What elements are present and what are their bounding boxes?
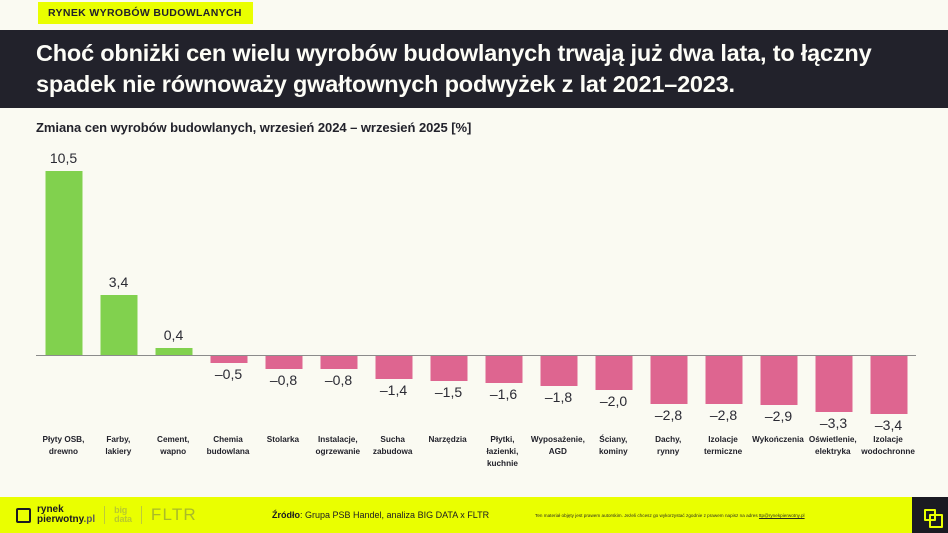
copyright-disclaimer: Ten materiał objęty jest prawem autorski…: [535, 513, 805, 518]
brand-tld: .pl: [83, 514, 95, 525]
bar-negative: [650, 355, 687, 404]
x-axis-labels: Płyty OSB,drewnoFarby,lakieryCement,wapn…: [36, 434, 916, 470]
disclaimer-link[interactable]: ttp@rynekpierwotny.pl: [759, 513, 805, 518]
bar-column: –2,9: [751, 152, 806, 428]
bar-positive: [45, 171, 82, 354]
bar-negative: [540, 355, 577, 386]
fltr-logo: FLTR: [151, 505, 197, 525]
x-axis-label: Suchazabudowa: [365, 434, 420, 470]
bar-negative: [760, 355, 797, 406]
bar-value-label: –2,8: [655, 407, 682, 423]
bar-column: –3,4: [861, 152, 916, 428]
x-axis-label: Wykończenia: [751, 434, 806, 470]
bar-column: 0,4: [146, 152, 201, 428]
x-axis-label: Oświetlenie,elektryka: [805, 434, 860, 470]
x-axis-label: Narzędzia: [420, 434, 475, 470]
bar-value-label: –0,8: [270, 372, 297, 388]
bar-negative: [265, 355, 302, 369]
x-axis-label: Farby,lakiery: [91, 434, 146, 470]
bar-value-label: 3,4: [109, 274, 128, 290]
source-label: Źródło: [272, 510, 300, 520]
square-logo-icon: [16, 508, 31, 523]
bar-positive: [100, 295, 137, 354]
bigdata-line-2: data: [114, 515, 132, 524]
bar-value-label: –2,8: [710, 407, 737, 423]
bar-value-label: –1,6: [490, 386, 517, 402]
x-axis-label: Cement,wapno: [146, 434, 201, 470]
bar-column: –1,6: [476, 152, 531, 428]
bar-negative: [595, 355, 632, 390]
footer-logos: rynek pierwotny.pl big data FLTR: [0, 505, 197, 526]
x-axis-label: Ściany,kominy: [586, 434, 641, 470]
bar-value-label: –0,8: [325, 372, 352, 388]
bar-negative: [375, 355, 412, 379]
bar-column: –0,8: [311, 152, 366, 428]
bar-column: –1,8: [531, 152, 586, 428]
x-axis-label: Dachy,rynny: [641, 434, 696, 470]
bar-column: 10,5: [36, 152, 91, 428]
bar-value-label: –1,5: [435, 384, 462, 400]
bar-column: –1,5: [421, 152, 476, 428]
disclaimer-text: Ten materiał objęty jest prawem autorski…: [535, 513, 759, 518]
chart-subtitle: Zmiana cen wyrobów budowlanych, wrzesień…: [36, 120, 471, 135]
bar-column: –2,8: [696, 152, 751, 428]
bar-column: –0,8: [256, 152, 311, 428]
bar-positive: [155, 348, 192, 355]
x-axis-label: Izolacjetermiczne: [696, 434, 751, 470]
bar-negative: [430, 355, 467, 381]
brand-line-2: pierwotny.pl: [37, 515, 95, 526]
bar-column: –3,3: [806, 152, 861, 428]
rynek-pierwotny-logo[interactable]: rynek pierwotny.pl: [16, 505, 95, 526]
x-axis-label: Izolacjewodochronne: [860, 434, 916, 470]
logo-divider-2: [141, 506, 142, 524]
bar-value-label: –2,9: [765, 408, 792, 424]
x-axis-label: Stolarka: [256, 434, 311, 470]
bar-chart: 10,53,40,4–0,5–0,8–0,8–1,4–1,5–1,6–1,8–2…: [36, 152, 916, 474]
x-axis-label: Wyposażenie,AGD: [530, 434, 586, 470]
bar-value-label: –1,8: [545, 389, 572, 405]
bar-column: –2,8: [641, 152, 696, 428]
bar-value-label: –2,0: [600, 393, 627, 409]
bar-value-label: 0,4: [164, 327, 183, 343]
source-text: : Grupa PSB Handel, analiza BIG DATA x F…: [300, 510, 489, 520]
chart-plot-area: 10,53,40,4–0,5–0,8–0,8–1,4–1,5–1,6–1,8–2…: [36, 152, 916, 428]
brand-name: rynek pierwotny.pl: [37, 505, 95, 526]
x-axis-label: Instalacje,ogrzewanie: [310, 434, 365, 470]
bar-negative: [485, 355, 522, 383]
headline-band: Choć obniżki cen wielu wyrobów budowlany…: [0, 30, 948, 108]
kicker-container: RYNEK WYROBÓW BUDOWLANYCH: [38, 2, 253, 24]
corner-square-icon: [924, 509, 936, 521]
x-axis-label: Płytki,łazienki,kuchnie: [475, 434, 530, 470]
bar-value-label: –1,4: [380, 382, 407, 398]
zero-axis-line: [36, 355, 916, 357]
infographic-page: RYNEK WYROBÓW BUDOWLANYCH Choć obniżki c…: [0, 0, 948, 533]
x-axis-label: Chemiabudowlana: [201, 434, 256, 470]
bar-column: –2,0: [586, 152, 641, 428]
source-note: Źródło: Grupa PSB Handel, analiza BIG DA…: [272, 510, 489, 520]
bar-value-label: –0,5: [215, 366, 242, 382]
bar-columns: 10,53,40,4–0,5–0,8–0,8–1,4–1,5–1,6–1,8–2…: [36, 152, 916, 428]
x-axis-label: Płyty OSB,drewno: [36, 434, 91, 470]
bar-value-label: –3,4: [875, 417, 902, 433]
bar-value-label: 10,5: [50, 150, 77, 166]
bar-negative: [870, 355, 907, 414]
bar-negative: [705, 355, 742, 404]
bar-value-label: –3,3: [820, 415, 847, 431]
bigdata-logo: big data: [114, 506, 132, 524]
footer-bar: rynek pierwotny.pl big data FLTR Źródło:…: [0, 497, 948, 533]
logo-divider-1: [104, 506, 105, 524]
bar-column: –1,4: [366, 152, 421, 428]
bar-column: 3,4: [91, 152, 146, 428]
kicker-badge: RYNEK WYROBÓW BUDOWLANYCH: [38, 2, 253, 24]
bar-negative: [320, 355, 357, 369]
bar-column: –0,5: [201, 152, 256, 428]
bar-negative: [815, 355, 852, 413]
corner-logo-badge: [912, 497, 948, 533]
page-title: Choć obniżki cen wielu wyrobów budowlany…: [0, 38, 948, 100]
